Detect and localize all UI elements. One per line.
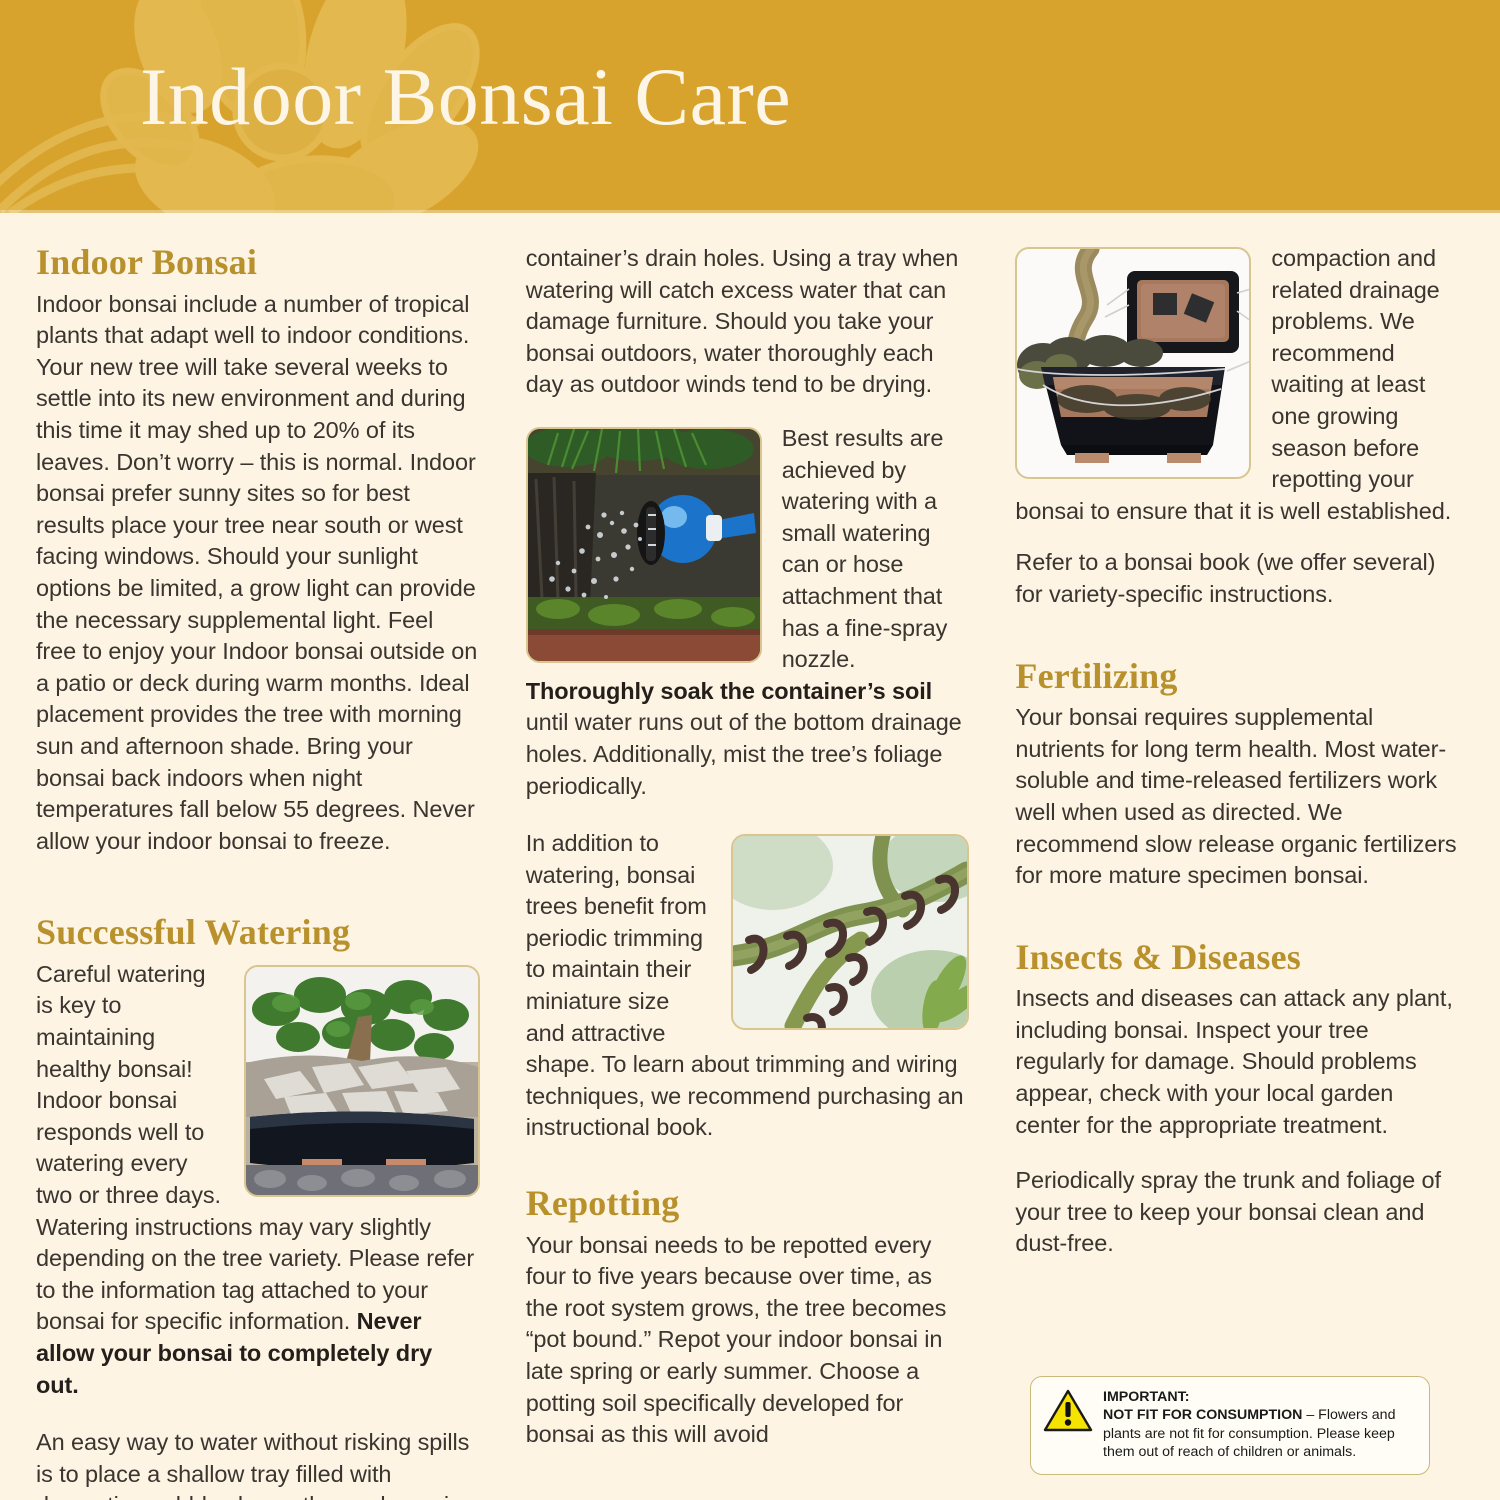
column-1: Indoor Bonsai Indoor bonsai include a nu… xyxy=(36,243,480,1500)
bonsai-pot-with-drainage-screens-photo xyxy=(1015,247,1251,479)
paragraph-fertilizing: Your bonsai requires supplemental nutrie… xyxy=(1015,702,1464,892)
page-header: Indoor Bonsai Care xyxy=(0,0,1500,213)
warning-text: IMPORTANT:NOT FIT FOR CONSUMPTION – Flow… xyxy=(1103,1388,1415,1462)
section-heading-repotting: Repotting xyxy=(526,1184,970,1224)
warning-subtitle: NOT FIT FOR CONSUMPTION xyxy=(1103,1407,1302,1423)
paragraph-drain-holes-continued: container’s drain holes. Using a tray wh… xyxy=(526,243,970,401)
hose-spray-nozzle-watering-photo xyxy=(526,427,762,663)
best-results-tail: until water runs out of the bottom drain… xyxy=(526,709,962,798)
paragraph-insects-1: Insects and diseases can attack any plan… xyxy=(1015,983,1464,1141)
wired-bonsai-branch-photo xyxy=(731,834,969,1030)
photo-content xyxy=(246,967,478,1195)
section-heading-insects-diseases: Insects & Diseases xyxy=(1015,938,1464,978)
column-2: container’s drain holes. Using a tray wh… xyxy=(526,243,970,1451)
section-heading-successful-watering: Successful Watering xyxy=(36,913,480,953)
paragraph-insects-2: Periodically spray the trunk and foliage… xyxy=(1015,1165,1464,1260)
paragraph-trimming: In addition to watering, bonsai trees be… xyxy=(526,828,970,1144)
photo-content xyxy=(1017,249,1249,477)
paragraph-bonsai-book: Refer to a bonsai book (we offer several… xyxy=(1015,547,1464,610)
paragraph-indoor-bonsai: Indoor bonsai include a number of tropic… xyxy=(36,289,480,858)
column-3: compaction and related drainage problems… xyxy=(1015,243,1464,1260)
warning-triangle-icon xyxy=(1043,1388,1093,1437)
best-results-lead: Best results are achieved by watering wi… xyxy=(782,425,948,672)
section-heading-indoor-bonsai: Indoor Bonsai xyxy=(36,243,480,283)
paragraph-best-results: Best results are achieved by watering wi… xyxy=(526,423,970,802)
page-title: Indoor Bonsai Care xyxy=(140,50,791,144)
paragraph-repotting: Your bonsai needs to be repotted every f… xyxy=(526,1230,970,1451)
warning-title: IMPORTANT: xyxy=(1103,1388,1415,1406)
document-page: Indoor Bonsai Care Indoor Bonsai Indoor … xyxy=(0,0,1500,1500)
section-heading-fertilizing: Fertilizing xyxy=(1015,657,1464,697)
paragraph-tray-pebbles: An easy way to water without risking spi… xyxy=(36,1427,480,1500)
photo-content xyxy=(528,429,760,661)
photo-content xyxy=(733,836,967,1028)
thoroughly-soak-bold: Thoroughly soak the container’s soil xyxy=(526,678,932,704)
jade-bonsai-in-blue-pot-photo xyxy=(244,965,480,1197)
paragraph-repot-continued: compaction and related drainage problems… xyxy=(1015,243,1464,527)
paragraph-successful-watering: Careful watering is key to maintaining h… xyxy=(36,959,480,1401)
document-body: Indoor Bonsai Indoor bonsai include a nu… xyxy=(0,213,1500,1500)
important-warning-box: IMPORTANT:NOT FIT FOR CONSUMPTION – Flow… xyxy=(1030,1376,1430,1475)
